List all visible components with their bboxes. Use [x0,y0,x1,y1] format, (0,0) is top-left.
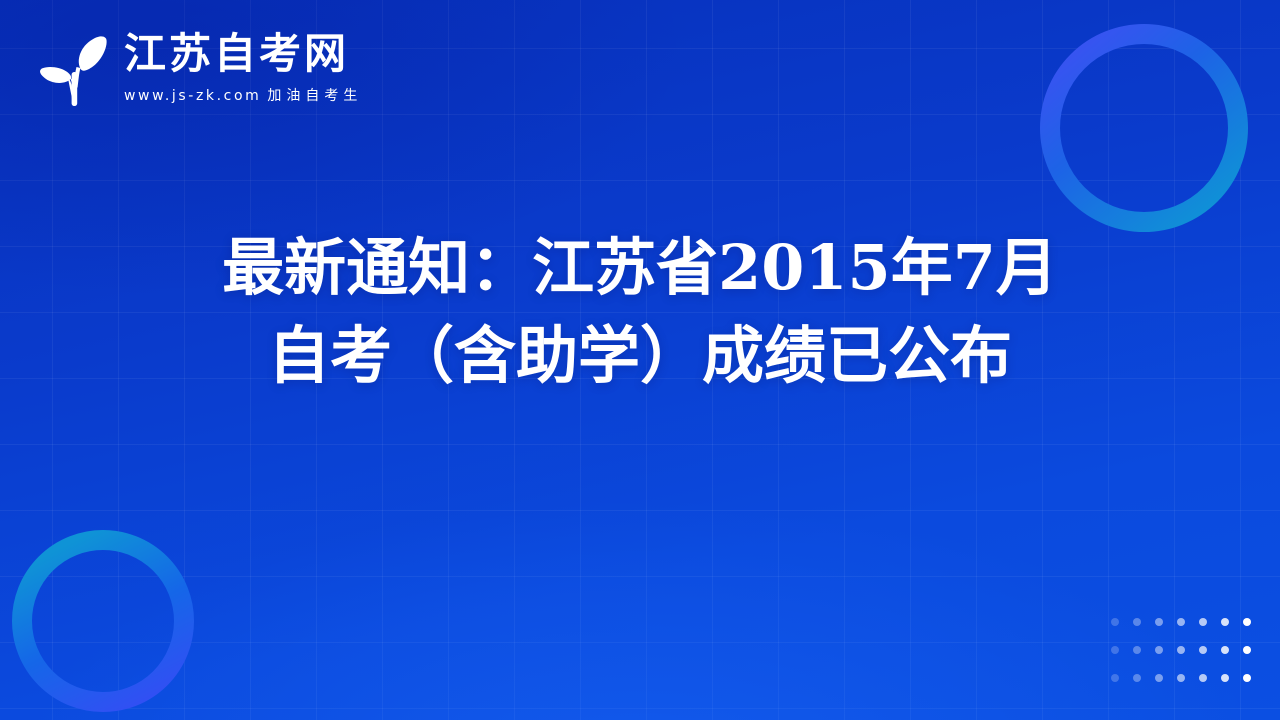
sprout-icon [32,28,110,108]
logo-website: www.js-zk.com [124,88,261,104]
page-title: 最新通知：江苏省2015年7月自考（含助学）成绩已公布 [0,224,1280,400]
dot [1243,646,1251,654]
site-logo: 江苏自考网 www.js-zk.com加油自考生 [32,26,362,108]
dot [1155,646,1163,654]
dot [1111,674,1119,682]
dot [1111,618,1119,626]
ring-top-right-decoration [1038,22,1250,234]
dot [1155,674,1163,682]
dot [1221,618,1229,626]
dot [1133,646,1141,654]
promo-banner: 江苏自考网 www.js-zk.com加油自考生 最新通知：江苏省2015年7月… [0,0,1280,720]
logo-subtitle: www.js-zk.com加油自考生 [124,85,362,105]
dot [1199,618,1207,626]
dot [1221,646,1229,654]
dot [1111,646,1119,654]
dot [1177,618,1185,626]
ring-bottom-left-decoration [12,530,194,712]
dot-grid-decoration [1104,608,1258,692]
dot [1177,674,1185,682]
dot [1199,674,1207,682]
dot [1155,618,1163,626]
dot [1221,674,1229,682]
dot [1133,618,1141,626]
dot [1177,646,1185,654]
logo-slogan: 加油自考生 [267,88,362,104]
dot [1243,674,1251,682]
dot [1199,646,1207,654]
dot [1243,618,1251,626]
logo-title: 江苏自考网 [124,30,362,77]
dot [1133,674,1141,682]
